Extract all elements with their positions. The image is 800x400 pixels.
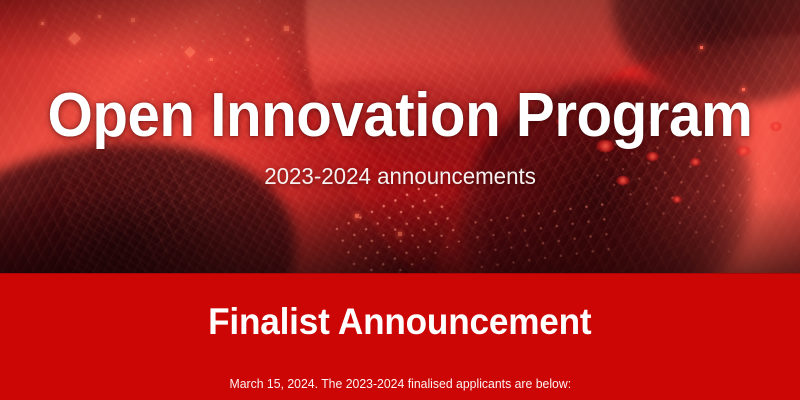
banner-heading: Finalist Announcement (208, 303, 591, 340)
banner-note: March 15, 2024. The 2023-2024 finalised … (229, 378, 571, 391)
announcement-page: Open Innovation Program 2023-2024 announ… (0, 0, 800, 400)
announcement-banner: Finalist Announcement March 15, 2024. Th… (0, 273, 800, 400)
hero-section: Open Innovation Program 2023-2024 announ… (0, 0, 800, 273)
page-title: Open Innovation Program (48, 85, 753, 147)
hero-text-block: Open Innovation Program 2023-2024 announ… (0, 0, 800, 273)
page-subtitle: 2023-2024 announcements (264, 165, 536, 188)
